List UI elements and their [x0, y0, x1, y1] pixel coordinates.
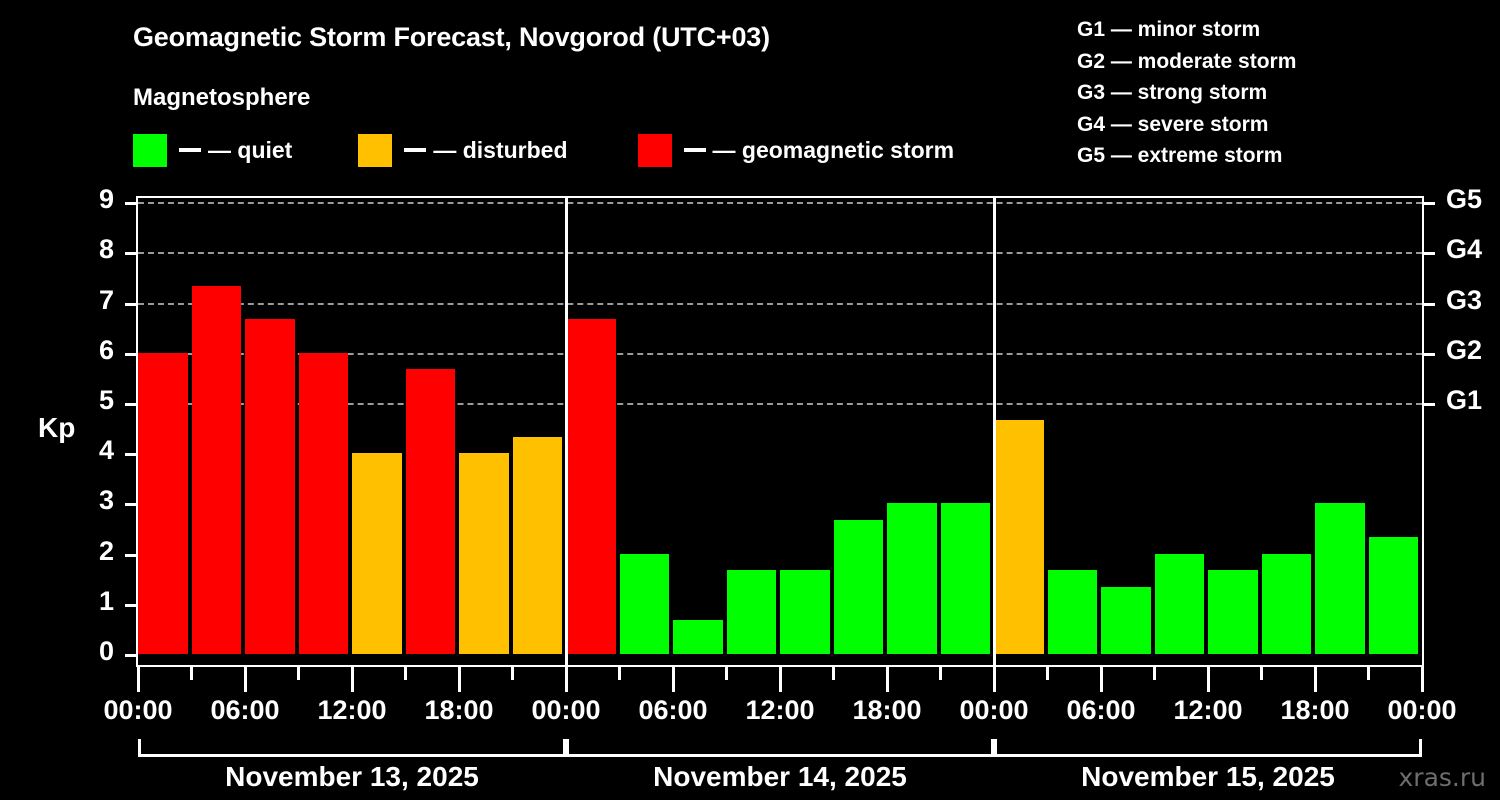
x-tick-label: 00:00 [103, 695, 172, 726]
y-tick-mark [125, 353, 136, 356]
bar[interactable] [620, 554, 670, 654]
x-tick-major [1207, 667, 1210, 692]
g-tick-label-g1: G1 [1446, 385, 1482, 416]
x-tick-minor [297, 667, 300, 680]
bar[interactable] [566, 319, 616, 654]
y-tick-mark [125, 403, 136, 406]
x-tick-label: 18:00 [424, 695, 493, 726]
bar[interactable] [727, 570, 777, 654]
y-tick-label: 0 [74, 636, 114, 667]
x-tick-minor [939, 667, 942, 680]
bar[interactable] [834, 520, 884, 654]
x-tick-minor [190, 667, 193, 680]
g-scale-line-g4: G4 — severe storm [1077, 109, 1407, 141]
day-divider [565, 198, 568, 665]
x-tick-major [886, 667, 889, 692]
x-tick-major [244, 667, 247, 692]
g-tick-mark [1424, 202, 1435, 205]
legend-label-storm: — geomagnetic storm [713, 137, 955, 164]
bar[interactable] [138, 353, 188, 654]
legend-label-quiet: — quiet [208, 137, 292, 164]
plot-area [136, 196, 1424, 667]
g-tick-label-g3: G3 [1446, 285, 1482, 316]
x-tick-label: 06:00 [210, 695, 279, 726]
bar[interactable] [245, 319, 295, 654]
g-scale-line-g5: G5 — extreme storm [1077, 140, 1407, 172]
y-axis-label: Kp [38, 412, 75, 444]
day-bracket [994, 739, 1422, 757]
x-tick-label: 00:00 [531, 695, 600, 726]
g-scale-line-g1: G1 — minor storm [1077, 14, 1407, 46]
g-tick-label-g2: G2 [1446, 335, 1482, 366]
y-tick-label: 2 [74, 536, 114, 567]
page-title: Geomagnetic Storm Forecast, Novgorod (UT… [133, 22, 770, 53]
y-tick-mark [125, 202, 136, 205]
g-scale-line-g2: G2 — moderate storm [1077, 46, 1407, 78]
y-tick-label: 6 [74, 335, 114, 366]
g-tick-mark [1424, 353, 1435, 356]
x-tick-label: 18:00 [852, 695, 921, 726]
legend-dash-icon [179, 148, 201, 152]
x-tick-label: 12:00 [1173, 695, 1242, 726]
bar[interactable] [1262, 554, 1312, 654]
day-label: November 14, 2025 [566, 761, 994, 793]
x-tick-minor [832, 667, 835, 680]
x-tick-major [351, 667, 354, 692]
bar[interactable] [1101, 587, 1151, 654]
bar[interactable] [887, 503, 937, 654]
bar[interactable] [1369, 537, 1419, 654]
bar[interactable] [673, 620, 723, 654]
legend-item-disturbed: — disturbed [358, 132, 567, 168]
watermark: xras.ru [1399, 763, 1487, 792]
bar[interactable] [1208, 570, 1258, 654]
x-tick-minor [618, 667, 621, 680]
g-tick-mark [1424, 303, 1435, 306]
g-tick-mark [1424, 403, 1435, 406]
y-tick-mark [125, 503, 136, 506]
day-bracket [138, 739, 566, 757]
y-tick-label: 4 [74, 435, 114, 466]
x-tick-label: 00:00 [1387, 695, 1456, 726]
bar[interactable] [352, 453, 402, 654]
legend-item-quiet: — quiet [133, 132, 292, 168]
bar[interactable] [513, 437, 563, 654]
legend-item-storm: — geomagnetic storm [638, 132, 955, 168]
bar[interactable] [299, 353, 349, 654]
chart-subtitle: Magnetosphere [133, 84, 310, 112]
day-bracket [566, 739, 994, 757]
x-tick-major [137, 667, 140, 692]
bar[interactable] [1315, 503, 1365, 654]
quiet-swatch-icon [133, 134, 167, 167]
g-scale-line-g3: G3 — strong storm [1077, 77, 1407, 109]
magnetosphere-legend: — quiet — disturbed — geomagnetic storm [133, 132, 954, 168]
y-tick-mark [125, 554, 136, 557]
bar[interactable] [1155, 554, 1205, 654]
bar[interactable] [459, 453, 509, 654]
y-tick-label: 7 [74, 285, 114, 316]
y-tick-mark [125, 453, 136, 456]
x-tick-minor [1260, 667, 1263, 680]
y-tick-mark [125, 604, 136, 607]
x-tick-major [565, 667, 568, 692]
x-tick-minor [404, 667, 407, 680]
x-tick-label: 06:00 [638, 695, 707, 726]
bar[interactable] [192, 286, 242, 654]
g-tick-label-g4: G4 [1446, 234, 1482, 265]
bar-series [138, 198, 1422, 665]
x-tick-major [672, 667, 675, 692]
x-tick-minor [1046, 667, 1049, 680]
x-tick-major [458, 667, 461, 692]
bar[interactable] [780, 570, 830, 654]
day-divider [993, 198, 996, 665]
g-scale-legend: G1 — minor storm G2 — moderate storm G3 … [1077, 14, 1407, 172]
x-tick-major [779, 667, 782, 692]
x-tick-minor [511, 667, 514, 680]
bar[interactable] [941, 503, 991, 654]
chart-root: Geomagnetic Storm Forecast, Novgorod (UT… [0, 0, 1500, 800]
x-tick-major [1421, 667, 1424, 692]
storm-swatch-icon [638, 134, 672, 167]
x-tick-minor [725, 667, 728, 680]
x-tick-label: 06:00 [1066, 695, 1135, 726]
x-tick-major [1100, 667, 1103, 692]
y-tick-mark [125, 654, 136, 657]
bar[interactable] [406, 369, 456, 654]
legend-dash-icon [404, 148, 426, 152]
x-tick-label: 00:00 [959, 695, 1028, 726]
y-tick-mark [125, 303, 136, 306]
y-tick-label: 1 [74, 586, 114, 617]
y-tick-label: 9 [74, 184, 114, 215]
x-tick-major [1314, 667, 1317, 692]
bar[interactable] [1048, 570, 1098, 654]
bar[interactable] [994, 420, 1044, 654]
x-tick-label: 18:00 [1280, 695, 1349, 726]
g-tick-mark [1424, 252, 1435, 255]
day-label: November 15, 2025 [994, 761, 1422, 793]
x-tick-label: 12:00 [745, 695, 814, 726]
y-tick-label: 5 [74, 385, 114, 416]
legend-label-disturbed: — disturbed [433, 137, 567, 164]
y-tick-label: 8 [74, 234, 114, 265]
x-tick-major [993, 667, 996, 692]
legend-dash-icon [684, 148, 706, 152]
x-tick-minor [1153, 667, 1156, 680]
g-tick-label-g5: G5 [1446, 184, 1482, 215]
disturbed-swatch-icon [358, 134, 392, 167]
y-tick-label: 3 [74, 485, 114, 516]
x-tick-minor [1367, 667, 1370, 680]
day-label: November 13, 2025 [138, 761, 566, 793]
x-tick-label: 12:00 [317, 695, 386, 726]
y-tick-mark [125, 252, 136, 255]
